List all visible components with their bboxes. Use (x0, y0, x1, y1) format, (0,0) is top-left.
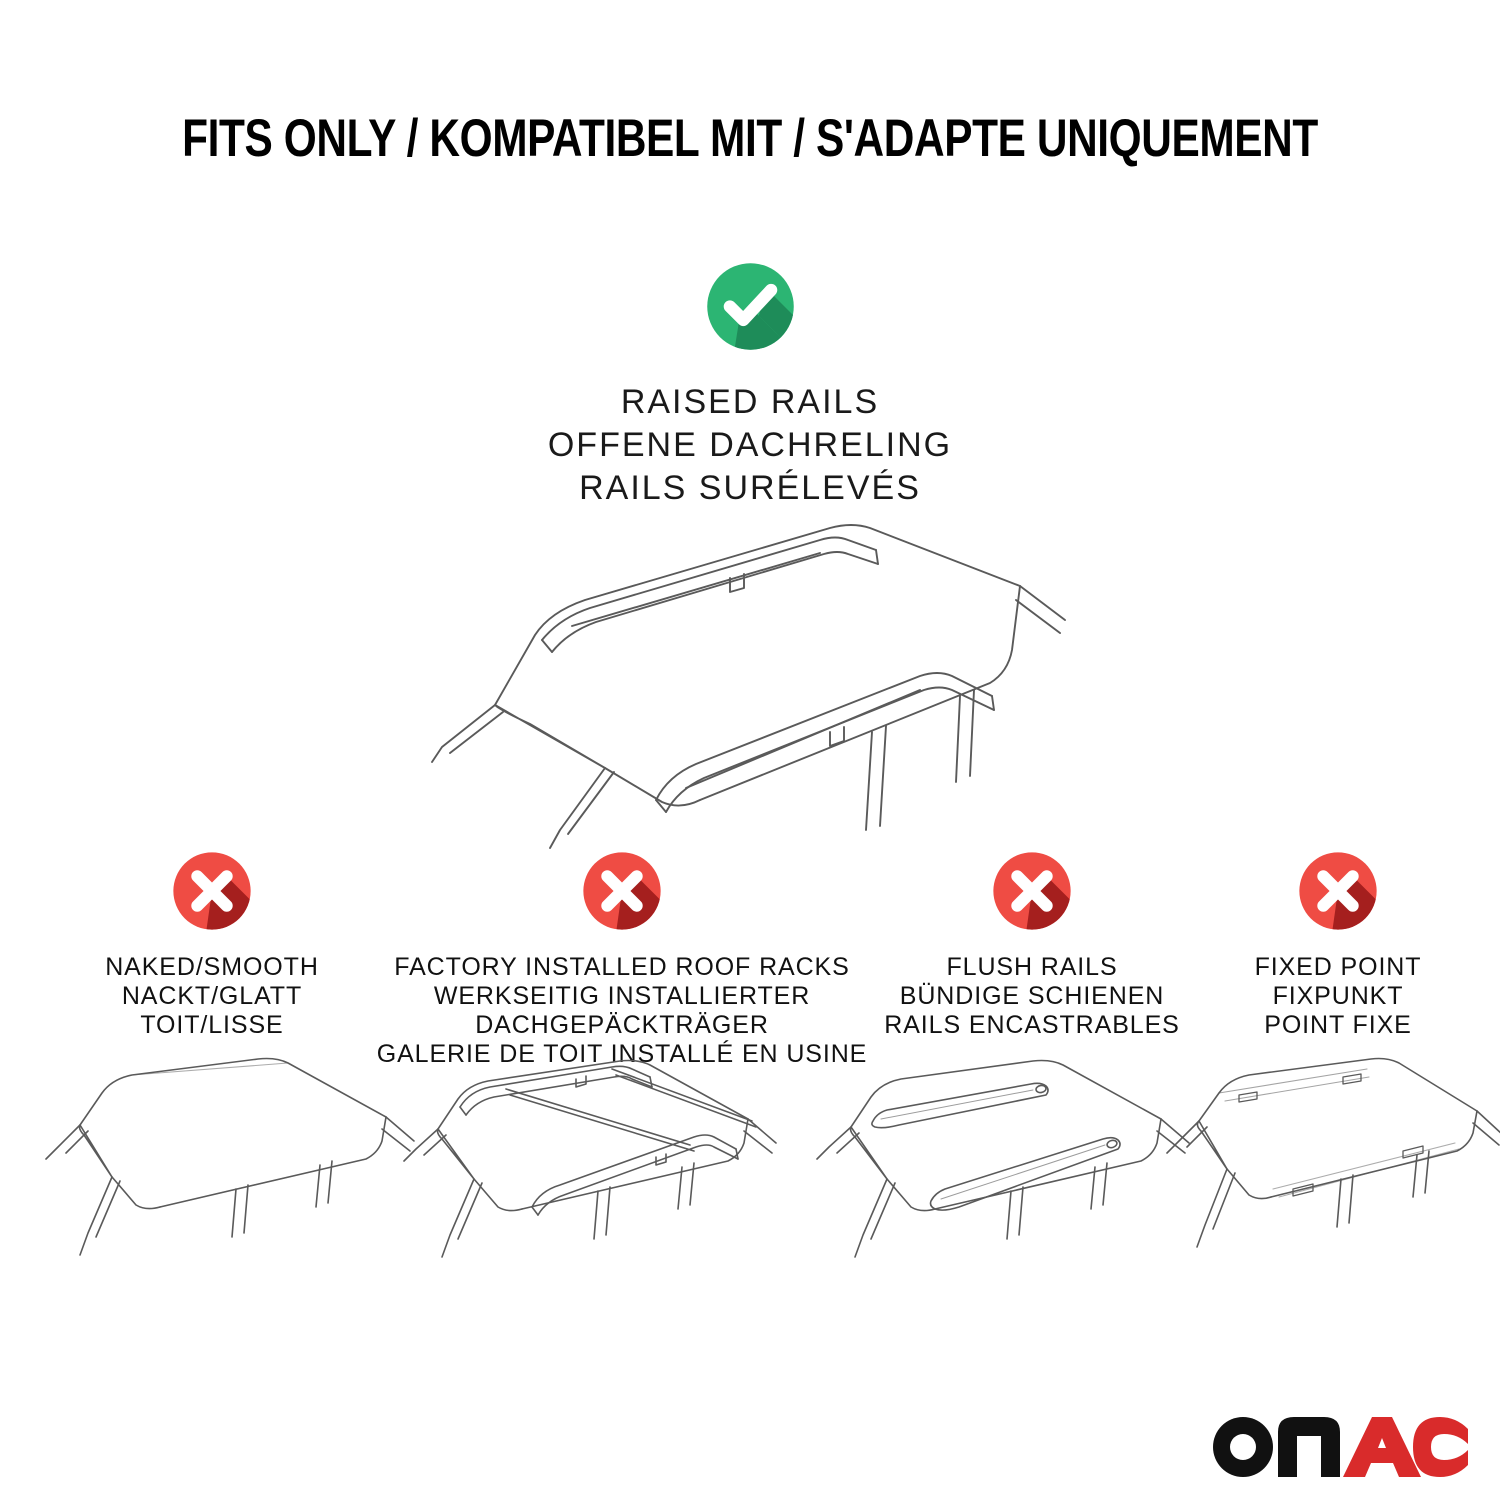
compatible-caption: RAISED RAILS OFFENE DACHRELING RAILS SUR… (548, 381, 952, 510)
label-line-en: FIXED POINT (1255, 953, 1422, 982)
compatible-line-de: OFFENE DACHRELING (548, 424, 952, 467)
label-line-fr: RAILS ENCASTRABLES (884, 1011, 1179, 1040)
car-roof-fixed-point-illustration (1165, 1055, 1500, 1285)
incompatible-item-factory-installed-roof-racks: FACTORY INSTALLED ROOF RACKS WERKSEITIG … (398, 845, 846, 1069)
incompatible-item-flush-rails: FLUSH RAILS BÜNDIGE SCHIENEN RAILS ENCAS… (862, 845, 1202, 1040)
car-roof-flush-rails-illustration (815, 1055, 1215, 1285)
label-line-en: NAKED/SMOOTH (105, 953, 319, 982)
label-line-en: FACTORY INSTALLED ROOF RACKS (377, 953, 868, 982)
incompatible-item-naked-smooth: NAKED/SMOOTH NACKT/GLATT TOIT/LISSE (52, 845, 372, 1040)
label-line-de: NACKT/GLATT (105, 982, 319, 1011)
label-line-fr: TOIT/LISSE (105, 1011, 319, 1040)
car-roof-naked-smooth-illustration (40, 1055, 430, 1285)
label-line-de-1: WERKSEITIG INSTALLIERTER (377, 982, 868, 1011)
page-title: FITS ONLY / KOMPATIBEL MIT / S'ADAPTE UN… (150, 108, 1350, 169)
x-circle-icon (576, 845, 668, 937)
incompatible-section: NAKED/SMOOTH NACKT/GLATT TOIT/LISSE FACT… (0, 845, 1500, 1085)
omac-logo (1210, 1414, 1470, 1478)
label-line-de: FIXPUNKT (1255, 982, 1422, 1011)
label-line-fr: POINT FIXE (1255, 1011, 1422, 1040)
label-line-de: BÜNDIGE SCHIENEN (884, 982, 1179, 1011)
label-line-en: FLUSH RAILS (884, 953, 1179, 982)
incompatible-item-fixed-point: FIXED POINT FIXPUNKT POINT FIXE (1218, 845, 1458, 1040)
x-circle-icon (1292, 845, 1384, 937)
incompatible-label: FIXED POINT FIXPUNKT POINT FIXE (1255, 953, 1422, 1040)
incompatible-label: NAKED/SMOOTH NACKT/GLATT TOIT/LISSE (105, 953, 319, 1040)
incompatible-label: FLUSH RAILS BÜNDIGE SCHIENEN RAILS ENCAS… (884, 953, 1179, 1040)
label-line-de-2: DACHGEPÄCKTRÄGER (377, 1011, 868, 1040)
check-circle-icon (699, 255, 802, 358)
car-roof-factory-racks-illustration (400, 1055, 800, 1285)
x-circle-icon (166, 845, 258, 937)
incompatible-label: FACTORY INSTALLED ROOF RACKS WERKSEITIG … (377, 953, 868, 1069)
compatible-line-en: RAISED RAILS (548, 381, 952, 424)
x-circle-icon (986, 845, 1078, 937)
infographic-page: FITS ONLY / KOMPATIBEL MIT / S'ADAPTE UN… (0, 0, 1500, 1500)
compatible-section: RAISED RAILS OFFENE DACHRELING RAILS SUR… (0, 255, 1500, 510)
car-roof-with-raised-rails-illustration (400, 500, 1100, 850)
